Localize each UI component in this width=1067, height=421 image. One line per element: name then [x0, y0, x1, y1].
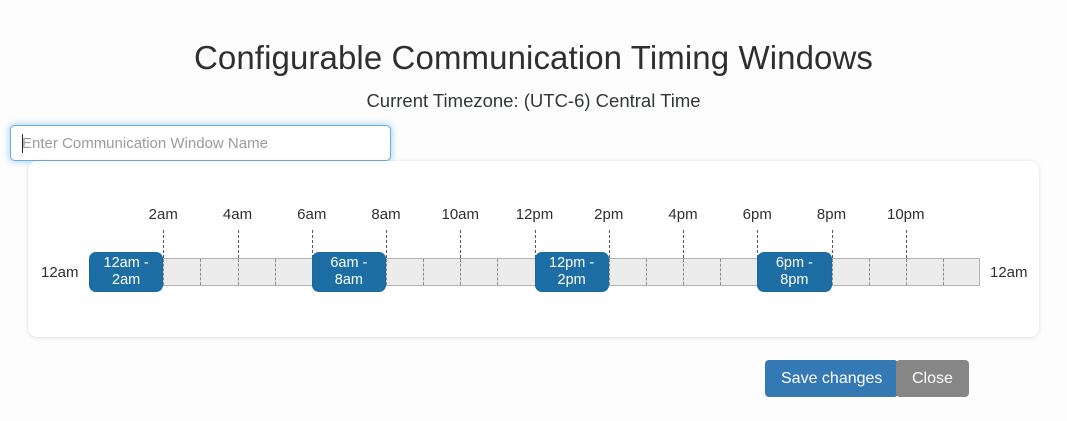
text-caret [22, 134, 23, 153]
timeline-selected-slot[interactable]: 12am - 2am [89, 252, 163, 292]
hour-separator [609, 259, 610, 285]
hour-separator [646, 259, 647, 285]
hour-tick-label: 10pm [887, 206, 925, 223]
close-button[interactable]: Close [896, 360, 969, 397]
hour-tick-label: 2am [149, 206, 178, 223]
timeline-card [28, 161, 1039, 337]
hour-tick-label: 4am [223, 206, 252, 223]
hour-separator [943, 259, 944, 285]
hour-separator [423, 259, 424, 285]
hour-separator [200, 259, 201, 285]
hour-tick-label: 6am [297, 206, 326, 223]
timezone-subtitle: Current Timezone: (UTC-6) Central Time [0, 89, 1067, 113]
window-name-input[interactable] [10, 125, 391, 161]
hour-tick [163, 230, 164, 258]
hour-tick-label: 10am [441, 206, 479, 223]
hour-tick [683, 230, 684, 258]
timeline-end-label: 12am [990, 264, 1028, 281]
timeline-selected-slot[interactable]: 6pm - 8pm [757, 252, 831, 292]
save-changes-button[interactable]: Save changes [765, 360, 898, 397]
hour-separator [238, 259, 239, 285]
hour-tick-label: 2pm [594, 206, 623, 223]
hour-separator [906, 259, 907, 285]
hour-tick [832, 230, 833, 258]
hour-tick [609, 230, 610, 258]
hour-timeline[interactable]: 12am 12am 2am4am6am8am10am12pm2pm4pm6pm8… [89, 258, 980, 286]
hour-tick-label: 12pm [516, 206, 554, 223]
hour-separator [163, 259, 164, 285]
communication-timing-windows-dialog: Configurable Communication Timing Window… [0, 0, 1067, 421]
hour-tick [386, 230, 387, 258]
hour-separator [275, 259, 276, 285]
timeline-start-label: 12am [41, 264, 79, 281]
hour-tick [906, 230, 907, 258]
hour-tick-label: 8pm [817, 206, 846, 223]
hour-tick-label: 8am [371, 206, 400, 223]
timeline-selected-slot[interactable]: 6am - 8am [312, 252, 386, 292]
hour-separator [720, 259, 721, 285]
hour-separator [832, 259, 833, 285]
hour-separator [386, 259, 387, 285]
hour-separator [497, 259, 498, 285]
dialog-footer: Save changes Close [0, 360, 1067, 398]
hour-separator [460, 259, 461, 285]
window-name-field-wrapper [10, 125, 391, 161]
hour-separator [869, 259, 870, 285]
hour-tick [535, 230, 536, 258]
page-title: Configurable Communication Timing Window… [0, 38, 1067, 78]
hour-tick-label: 4pm [668, 206, 697, 223]
hour-tick-label: 6pm [743, 206, 772, 223]
hour-separator [683, 259, 684, 285]
hour-tick [238, 230, 239, 258]
hour-tick [460, 230, 461, 258]
timeline-selected-slot[interactable]: 12pm - 2pm [535, 252, 609, 292]
